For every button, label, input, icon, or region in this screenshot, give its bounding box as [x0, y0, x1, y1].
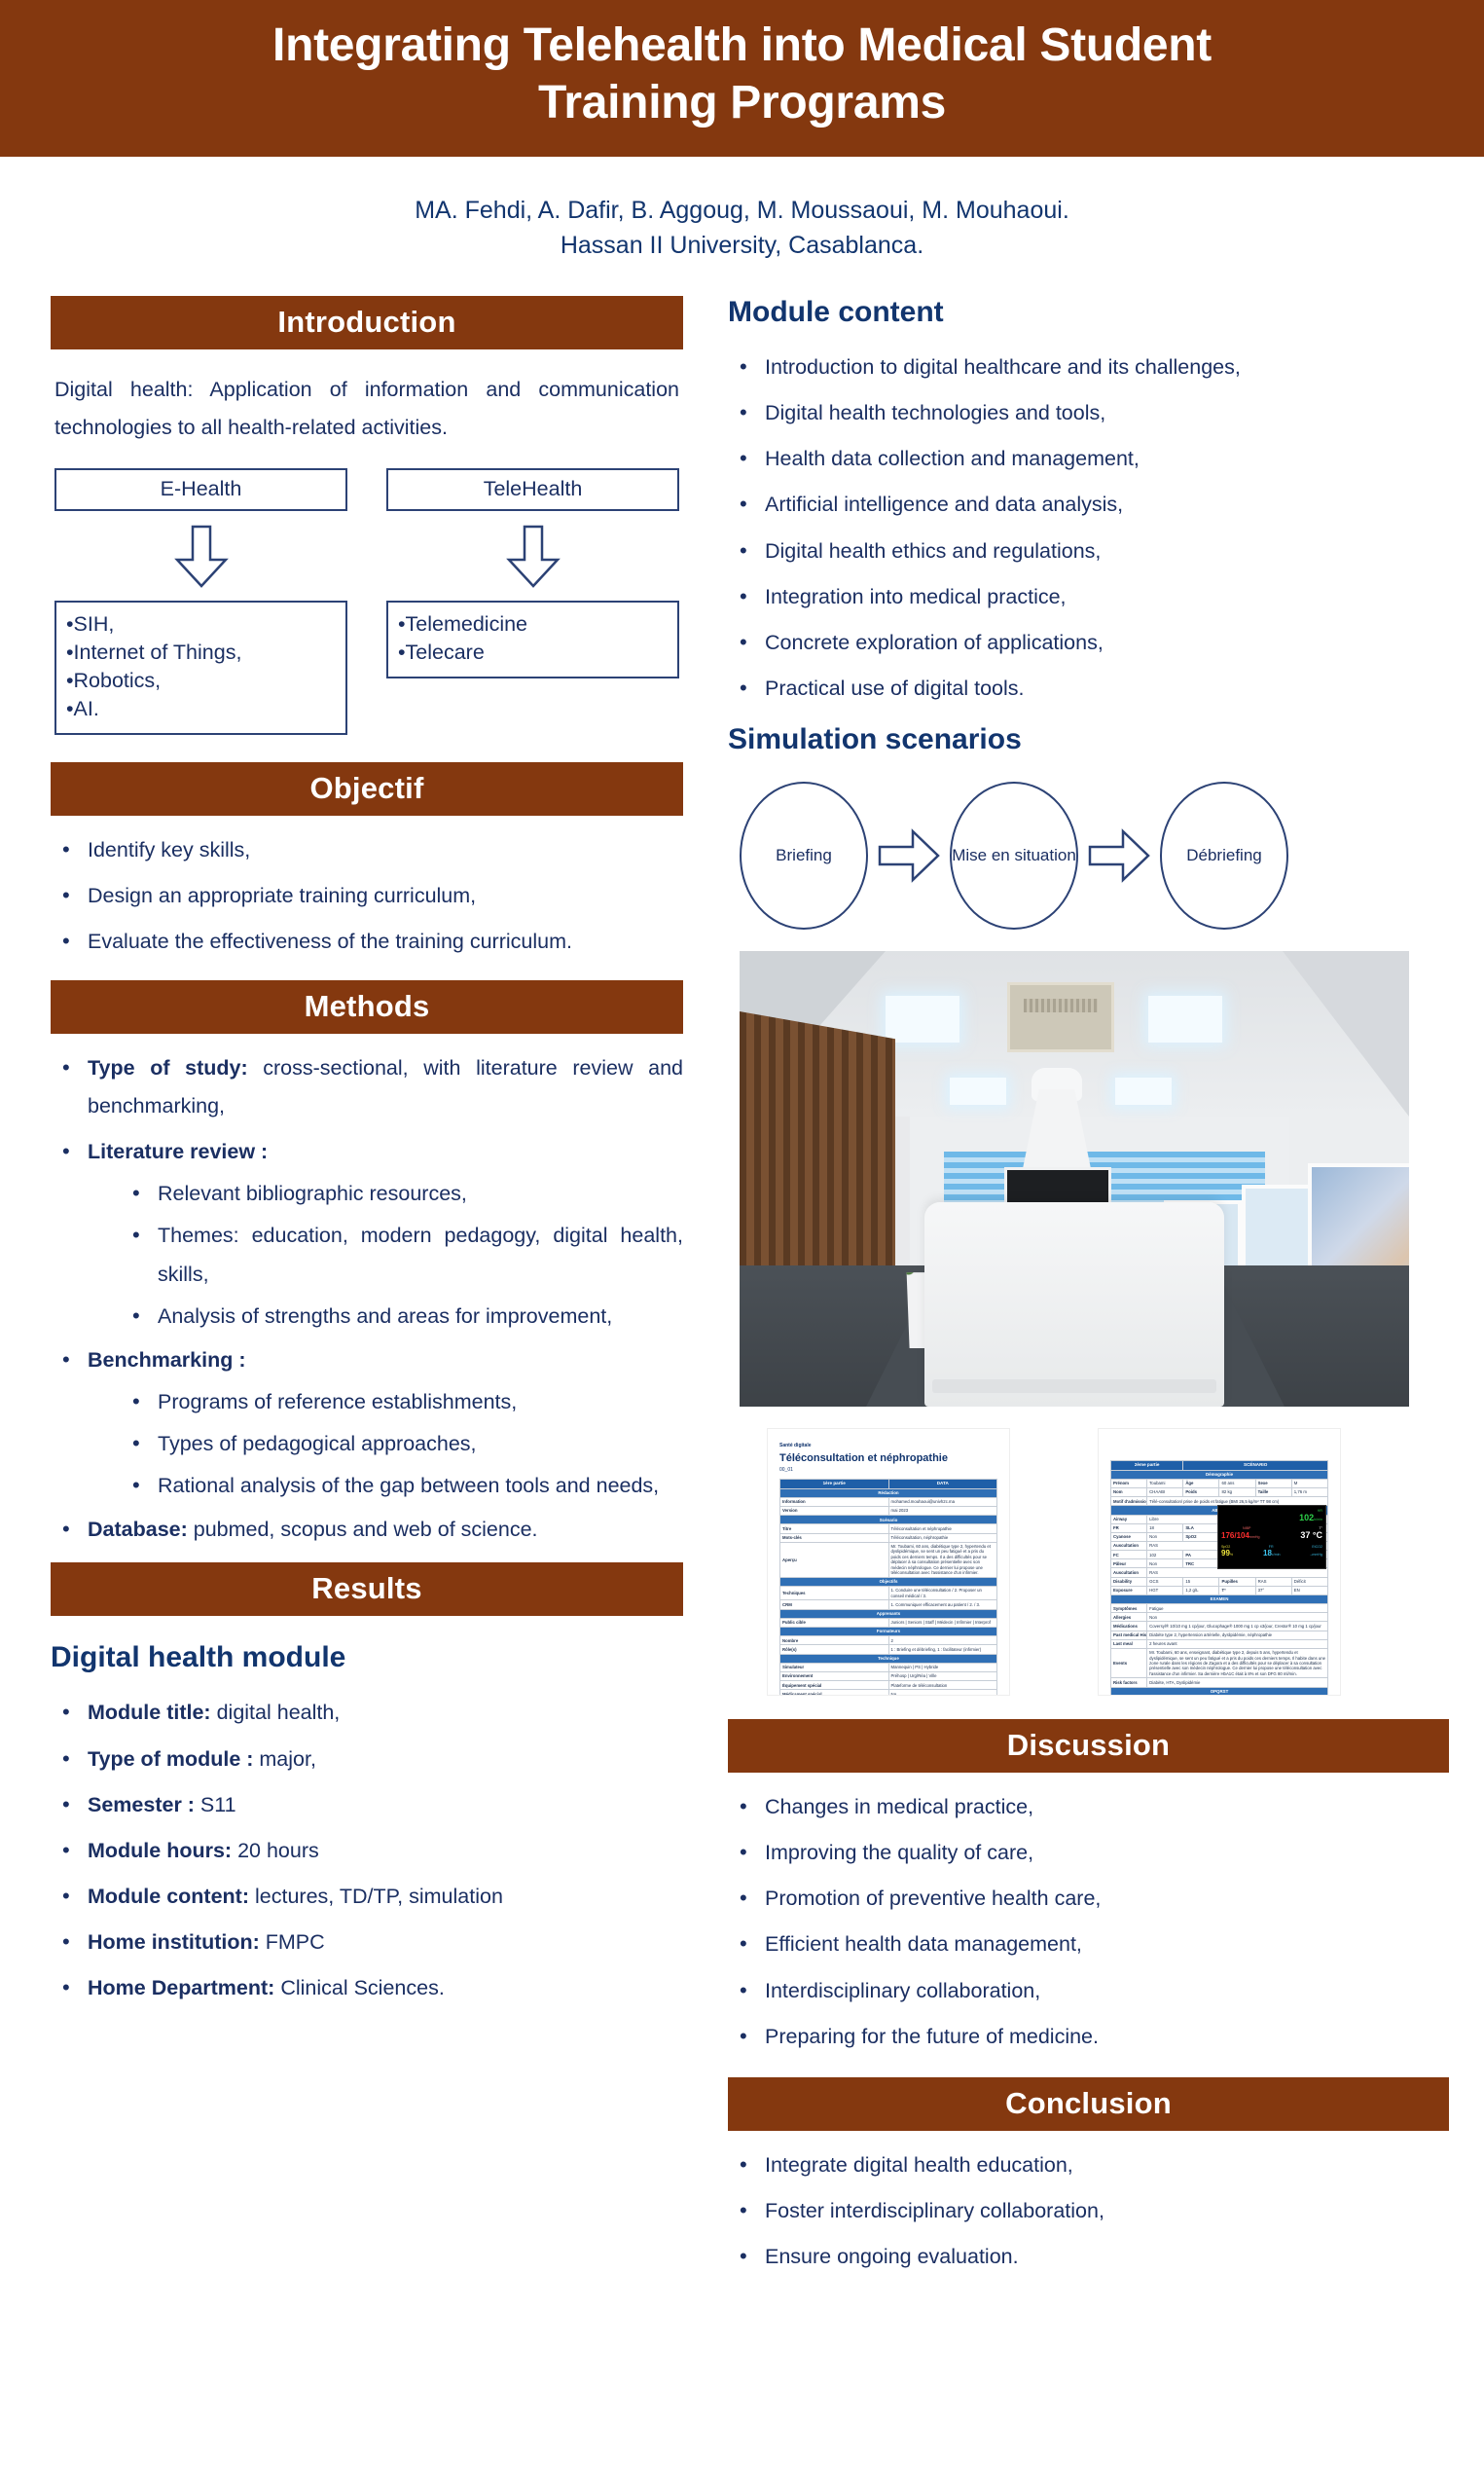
poster-title-line-2: Training Programs	[58, 75, 1426, 132]
list-item: Introduction to digital healthcare and i…	[728, 348, 1449, 386]
telehealth-items-box: Telemedicine Telecare	[386, 601, 679, 678]
results-item-label: Home Department:	[88, 1976, 274, 1999]
list-item: Identify key skills,	[51, 831, 683, 869]
section-header-results: Results	[51, 1562, 683, 1616]
results-item-label: Type of module :	[88, 1747, 253, 1771]
simulation-step-debriefing: Débriefing	[1160, 782, 1288, 930]
doc1-row-value: Mr. Toubami, 60 ans, diabétique type 2, …	[888, 1542, 997, 1577]
doc1-row-label: Médicament spécial	[780, 1690, 889, 1696]
list-item: Design an appropriate training curriculu…	[51, 877, 683, 915]
methods-item-label: Type of study:	[88, 1056, 248, 1080]
doc2-cell: Pâleur	[1111, 1559, 1147, 1568]
scenario-document-page-2: 2ème partieSCÉNARIO Démographie PrénomTo…	[1098, 1428, 1341, 1696]
doc2-cell: 37°	[1255, 1586, 1291, 1594]
doc2-cell: 2 heures avant	[1147, 1639, 1328, 1648]
doc1-row-value: Téléconsultation, néphropathie	[888, 1533, 997, 1542]
doc1-row-value: Juniors | Seniors | Staff | Médecin | In…	[888, 1618, 997, 1627]
results-item-label: Module content:	[88, 1885, 249, 1908]
doc1-row-label: CRM	[780, 1600, 889, 1609]
list-item: Types of pedagogical approaches,	[121, 1425, 683, 1463]
doc2-cell: Exposure	[1111, 1586, 1147, 1594]
doc2-header-right: SCÉNARIO	[1183, 1461, 1328, 1471]
doc2-cell: GCS	[1147, 1577, 1183, 1586]
results-list: Module title: digital health, Type of mo…	[51, 1678, 683, 2007]
doc2-cell: SLA	[1183, 1523, 1219, 1532]
list-item: Concrete exploration of applications,	[728, 624, 1449, 662]
doc1-row-label: Aperçu	[780, 1542, 889, 1577]
simulation-flow-diagram: Briefing Mise en situation Débriefing	[728, 760, 1449, 930]
results-item-text: 20 hours	[232, 1839, 319, 1862]
introduction-flow-diagram: E-Health SIH, Internet of Things, Roboti…	[51, 447, 683, 734]
section-header-methods: Methods	[51, 980, 683, 1034]
monitor-nibp-unit: mmHg	[1249, 1535, 1260, 1539]
doc1-row-label: Version	[780, 1507, 889, 1516]
doc1-row-value: mohamed.mouhaoui@univh2c.ma	[888, 1497, 997, 1506]
list-item: Changes in medical practice,	[728, 1788, 1449, 1826]
section-header-discussion: Discussion	[728, 1719, 1449, 1773]
list-item: Home institution: FMPC	[51, 1924, 683, 1961]
doc2-band: Démographie	[1111, 1470, 1328, 1479]
monitor-nibp-label: NIBP	[1243, 1526, 1250, 1530]
ehealth-items-box: SIH, Internet of Things, Robotics, AI.	[54, 601, 347, 734]
poster-title-banner: Integrating Telehealth into Medical Stud…	[0, 0, 1484, 157]
results-item-label: Module title:	[88, 1701, 211, 1724]
list-item: Type of study: cross-sectional, with lit…	[51, 1049, 683, 1125]
flow-column-telehealth: TeleHealth Telemedicine Telecare	[386, 468, 679, 734]
doc1-band: Apprenants	[780, 1609, 997, 1618]
methods-sublist-benchmarking: Programs of reference establishments, Ty…	[88, 1379, 683, 1505]
doc2-cell: Non	[1147, 1532, 1183, 1541]
telehealth-title-box: TeleHealth	[386, 468, 679, 511]
monitor-rr-unit: c/min	[1272, 1553, 1281, 1557]
monitor-hr-value: 102	[1299, 1513, 1314, 1522]
doc2-cell: Nom	[1111, 1488, 1147, 1497]
ehealth-item: SIH,	[66, 610, 336, 639]
doc2-cell: Disability	[1111, 1577, 1147, 1586]
doc1-row-label: Titre	[780, 1524, 889, 1533]
list-item: Integrate digital health education,	[728, 2146, 1449, 2184]
doc2-cell: Auscultation	[1111, 1568, 1147, 1577]
arrow-down-icon	[386, 511, 679, 601]
doc2-cell: SpO2	[1183, 1532, 1219, 1541]
methods-sublist-literature: Relevant bibliographic resources, Themes…	[88, 1171, 683, 1336]
monitor-rr-label: FR	[1269, 1545, 1274, 1549]
doc2-cell: TRC	[1183, 1559, 1219, 1568]
list-item: Practical use of digital tools.	[728, 670, 1449, 708]
doc1-band: Formateurs	[780, 1628, 997, 1636]
monitor-temp-value: 37 °C	[1300, 1530, 1322, 1540]
simulation-step-mise-en-situation: Mise en situation	[950, 782, 1078, 930]
monitor-spo2-value: 99	[1221, 1549, 1230, 1557]
list-item: Preparing for the future of medicine.	[728, 2018, 1449, 2056]
doc2-cell: Events	[1111, 1648, 1147, 1678]
doc2-cell: 60 ans	[1219, 1479, 1255, 1487]
doc1-row-value: Téléconsultation et néphropathie	[888, 1524, 997, 1533]
methods-item-text: pubmed, scopus and web of science.	[188, 1518, 538, 1541]
telehealth-item: Telemedicine	[398, 610, 668, 639]
doc2-band: EXAMEN	[1111, 1594, 1328, 1603]
list-item: Interdisciplinary collaboration,	[728, 1972, 1449, 2010]
simulation-heading: Simulation scenarios	[728, 723, 1449, 756]
doc2-cell: Diabète, HTA, Dyslipidémie	[1147, 1678, 1328, 1687]
results-item-label: Home institution:	[88, 1930, 260, 1954]
list-item: Digital health ethics and regulations,	[728, 532, 1449, 570]
doc2-cell: Symptômes	[1111, 1604, 1147, 1613]
doc1-header-left: 1ère partie	[780, 1480, 889, 1489]
section-header-conclusion: Conclusion	[728, 2077, 1449, 2131]
doc2-cell: Past medical History	[1111, 1631, 1147, 1639]
ehealth-item: Internet of Things,	[66, 639, 336, 667]
doc2-cell: Sexe	[1255, 1479, 1291, 1487]
list-item: Benchmarking : Programs of reference est…	[51, 1341, 683, 1506]
doc1-row-label: Information	[780, 1497, 889, 1506]
authors-block: MA. Fehdi, A. Dafir, B. Aggoug, M. Mouss…	[0, 157, 1484, 263]
doc2-cell: Déficit	[1291, 1577, 1327, 1586]
results-item-text: digital health,	[211, 1701, 341, 1724]
doc2-cell: Non	[1147, 1613, 1328, 1622]
section-header-introduction: Introduction	[51, 296, 683, 349]
doc2-band: OPQRST	[1111, 1687, 1328, 1696]
monitor-etco2-label: EtCO2	[1312, 1545, 1322, 1549]
doc2-cell: 1,2 g/L	[1183, 1586, 1219, 1594]
monitor-spo2-unit: %	[1230, 1553, 1233, 1557]
doc1-band: Rédaction	[780, 1488, 997, 1497]
doc2-cell: 82 kg	[1219, 1488, 1255, 1497]
poster-title-line-1: Integrating Telehealth into Medical Stud…	[58, 18, 1426, 75]
doc2-cell: PA	[1183, 1551, 1219, 1559]
list-item: Database: pubmed, scopus and web of scie…	[51, 1511, 683, 1549]
doc1-band: Scénario	[780, 1516, 997, 1524]
simulation-step-briefing: Briefing	[740, 782, 868, 930]
ceiling-ac-unit	[1007, 982, 1114, 1052]
doc2-cell: Motif d'admission	[1111, 1497, 1147, 1506]
introduction-paragraph: Digital health: Application of informati…	[51, 349, 683, 447]
doc1-band: Technique	[780, 1654, 997, 1663]
doc2-cell: Mr. Toubami, 60 ans, enseignant, diabéti…	[1147, 1648, 1328, 1678]
right-column: Module content Introduction to digital h…	[710, 296, 1484, 2284]
doc2-cell: Pupilles	[1219, 1577, 1255, 1586]
monitor-hr-unit: b/min	[1314, 1518, 1322, 1521]
doc1-row-label: Rôle(s)	[780, 1645, 889, 1654]
list-item: Relevant bibliographic resources,	[121, 1175, 683, 1213]
doc2-cell: Last meal	[1111, 1639, 1147, 1648]
doc2-table: 2ème partieSCÉNARIO Démographie PrénomTo…	[1110, 1460, 1328, 1696]
doc1-row-value: 1. Conduire une téléconsultation / 2. Pr…	[888, 1586, 997, 1600]
doc2-cell: 18	[1147, 1523, 1183, 1532]
reception-desk	[924, 1202, 1224, 1407]
results-item-label: Module hours:	[88, 1839, 232, 1862]
doc1-row-value: Plateforme de téléconsultation	[888, 1681, 997, 1690]
doc2-cell: T°	[1219, 1586, 1255, 1594]
doc1-band: Objectifs	[780, 1577, 997, 1586]
doc1-row-value: mai 2023	[888, 1507, 997, 1516]
ehealth-title-box: E-Health	[54, 468, 347, 511]
doc2-cell: Poids	[1183, 1488, 1219, 1497]
list-item: Foster interdisciplinary collaboration,	[728, 2192, 1449, 2230]
doc2-cell: 1,76 m	[1291, 1488, 1327, 1497]
conclusion-list: Integrate digital health education, Fost…	[728, 2131, 1449, 2276]
methods-item-label: Benchmarking :	[88, 1348, 245, 1372]
doc2-cell: M	[1291, 1479, 1327, 1487]
doc2-cell: Fatigue	[1147, 1604, 1328, 1613]
doc2-cell: CHAABI	[1147, 1488, 1183, 1497]
doc1-row-label: Techniques	[780, 1586, 889, 1600]
section-header-objectif: Objectif	[51, 762, 683, 816]
doc1-row-value: Mannequin | PS | Hybride	[888, 1663, 997, 1671]
doc2-cell: Non	[1147, 1559, 1183, 1568]
module-content-list: Introduction to digital healthcare and i…	[728, 333, 1449, 708]
monitor-spo2-label: SpO2	[1221, 1545, 1230, 1549]
doc1-row-label: Public cible	[780, 1618, 889, 1627]
doc2-cell: Auscultation	[1111, 1542, 1147, 1551]
doc2-cell: FC	[1111, 1551, 1147, 1559]
doc2-cell: 102	[1147, 1551, 1183, 1559]
arrow-right-icon	[878, 827, 940, 884]
monitor-etco2-unit: mmHg	[1312, 1553, 1322, 1557]
methods-item-label: Literature review :	[88, 1140, 268, 1163]
list-item: Type of module : major,	[51, 1741, 683, 1778]
doc1-row-label: Nombre	[780, 1636, 889, 1645]
list-item: Efficient health data management,	[728, 1925, 1449, 1963]
list-item: Promotion of preventive health care,	[728, 1880, 1449, 1918]
discussion-list: Changes in medical practice, Improving t…	[728, 1773, 1449, 2056]
list-item: Evaluate the effectiveness of the traini…	[51, 923, 683, 961]
list-item: Module content: lectures, TD/TP, simulat…	[51, 1878, 683, 1916]
list-item: Digital health technologies and tools,	[728, 394, 1449, 432]
ehealth-item: AI.	[66, 695, 336, 723]
objectif-list: Identify key skills, Design an appropria…	[51, 816, 683, 961]
poster-columns: Introduction Digital health: Application…	[0, 263, 1484, 2284]
arrow-down-icon	[54, 511, 347, 601]
list-item: Module hours: 20 hours	[51, 1832, 683, 1870]
monitor-temp-label: T°	[1319, 1526, 1322, 1530]
doc1-row-value: 1 : Briefing et débriefing, 1 : facilita…	[888, 1645, 997, 1654]
flow-column-ehealth: E-Health SIH, Internet of Things, Roboti…	[54, 468, 347, 734]
doc2-cell: RAS	[1255, 1577, 1291, 1586]
doc1-kicker: Santé digitale	[779, 1443, 997, 1448]
doc1-row-label: Environnement	[780, 1672, 889, 1681]
list-item: Rational analysis of the gap between too…	[121, 1467, 683, 1505]
doc2-cell: Taille	[1255, 1488, 1291, 1497]
doc2-cell: 15	[1183, 1577, 1219, 1586]
list-item: Artificial intelligence and data analysi…	[728, 486, 1449, 524]
list-item: Programs of reference establishments,	[121, 1383, 683, 1421]
doc2-cell: Allergies	[1111, 1613, 1147, 1622]
list-item: Improving the quality of care,	[728, 1834, 1449, 1872]
results-item-label: Semester :	[88, 1793, 195, 1816]
list-item: Health data collection and management,	[728, 440, 1449, 478]
results-item-text: lectures, TD/TP, simulation	[249, 1885, 503, 1908]
left-column: Introduction Digital health: Application…	[0, 296, 710, 2015]
list-item: Integration into medical practice,	[728, 578, 1449, 616]
list-item: Analysis of strengths and areas for impr…	[121, 1298, 683, 1336]
doc1-row-label: Mots-clés	[780, 1533, 889, 1542]
monitor-nibp-value: 176/104	[1221, 1531, 1249, 1540]
doc2-cell: RAS	[1147, 1568, 1328, 1577]
doc1-row-value: 2	[888, 1636, 997, 1645]
doc2-header-left: 2ème partie	[1111, 1461, 1183, 1471]
doc2-cell: Airway	[1111, 1515, 1147, 1523]
results-item-text: major,	[253, 1747, 316, 1771]
doc1-row-value: NA	[888, 1690, 997, 1696]
doc2-cell: Médications	[1111, 1622, 1147, 1631]
list-item: Semester : S11	[51, 1786, 683, 1824]
doc2-cell: Diabète type 2, hypertension artérielle,…	[1147, 1631, 1328, 1639]
monitor-rr-value: 18	[1263, 1549, 1272, 1557]
list-item: Literature review : Relevant bibliograph…	[51, 1133, 683, 1336]
methods-list: Type of study: cross-sectional, with lit…	[51, 1034, 683, 1550]
doc2-cell: Cyanose	[1111, 1532, 1147, 1541]
telehealth-item: Telecare	[398, 639, 668, 667]
methods-item-label: Database:	[88, 1518, 188, 1541]
doc1-title: Téléconsultation et néphropathie	[779, 1452, 997, 1464]
doc2-cell: Âge	[1183, 1479, 1219, 1487]
doc2-cell: Toubami	[1147, 1479, 1183, 1487]
module-content-heading: Module content	[728, 296, 1449, 329]
poster-root: Integrating Telehealth into Medical Stud…	[0, 0, 1484, 2492]
doc2-cell: Prénom	[1111, 1479, 1147, 1487]
doc1-table: 1ère partieDATA Rédaction Informationmoh…	[779, 1479, 997, 1696]
list-item: Module title: digital health,	[51, 1694, 683, 1732]
monitor-hr-label: HR	[1318, 1509, 1322, 1513]
doc1-subtitle: 00_01	[779, 1467, 997, 1473]
results-item-text: S11	[195, 1793, 236, 1816]
ehealth-item: Robotics,	[66, 667, 336, 695]
results-item-text: Clinical Sciences.	[274, 1976, 444, 1999]
doc1-row-label: Simulateur	[780, 1663, 889, 1671]
doc1-row-value: Préhosp | Urg/Réa | Ville	[888, 1672, 997, 1681]
doc2-cell: HGT	[1147, 1586, 1183, 1594]
list-item: Themes: education, modern pedagogy, digi…	[121, 1217, 683, 1293]
results-subheading: Digital health module	[51, 1641, 683, 1674]
affiliation: Hassan II University, Casablanca.	[0, 229, 1484, 264]
scenario-document-thumbnails: Santé digitale Téléconsultation et néphr…	[767, 1428, 1449, 1696]
doc1-row-label: Équipement spécial	[780, 1681, 889, 1690]
list-item: Home Department: Clinical Sciences.	[51, 1969, 683, 2007]
authors-list: MA. Fehdi, A. Dafir, B. Aggoug, M. Mouss…	[0, 194, 1484, 229]
doc2-cell: FR	[1111, 1523, 1147, 1532]
scenario-document-page-1: Santé digitale Téléconsultation et néphr…	[767, 1428, 1010, 1696]
arrow-right-icon	[1088, 827, 1150, 884]
doc1-row-value: 1. Communiquer efficacement au patient /…	[888, 1600, 997, 1609]
results-item-text: FMPC	[260, 1930, 325, 1954]
doc2-cell: Coversyl® 10/10 mg 1 cp/jour, Glucophage…	[1147, 1622, 1328, 1631]
doc2-cell: EN	[1291, 1586, 1327, 1594]
patient-vitals-monitor: HR 102 b/min NIBP T° 176/104mmHg 37 °C	[1217, 1505, 1326, 1569]
doc2-cell: Risk factors	[1111, 1678, 1147, 1687]
simulation-room-photo	[740, 951, 1409, 1407]
doc1-header-right: DATA	[888, 1480, 997, 1489]
list-item: Ensure ongoing evaluation.	[728, 2238, 1449, 2276]
